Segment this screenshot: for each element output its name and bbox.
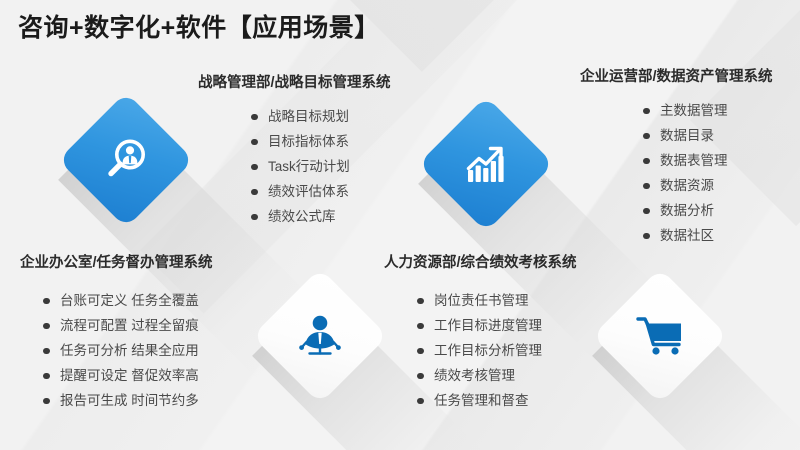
list-item: 提醒可设定 督促效率高 [40,363,213,388]
list-item: 绩效公式库 [248,204,391,229]
businessman-icon [272,288,368,384]
panel-dataasset: 企业运营部/数据资产管理系统 主数据管理 数据目录 数据表管理 数据资源 数据分… [578,66,773,248]
panel-office-heading-text: 企业办公室/任务督办管理系统 [20,255,213,271]
panel-strategy-list: 战略目标规划 目标指标体系 Task行动计划 绩效评估体系 绩效公式库 [248,104,391,229]
list-item: 数据资源 [640,173,773,198]
panel-dataasset-heading-text: 企业运营部/数据资产管理系统 [580,69,773,85]
list-item: 工作目标进度管理 [414,313,577,338]
panel-office-heading: 企业办公室/任务督办管理系统 [18,252,213,274]
panel-hr-list: 岗位责任书管理 工作目标进度管理 工作目标分析管理 绩效考核管理 任务管理和督查 [414,288,577,413]
list-item: 目标指标体系 [248,129,391,154]
list-item: 主数据管理 [640,98,773,123]
list-item: 数据目录 [640,123,773,148]
tile-office[interactable] [252,268,388,404]
shopping-cart-icon [612,288,708,384]
panel-hr-heading-text: 人力资源部/综合绩效考核系统 [384,255,577,271]
tile-hr[interactable] [592,268,728,404]
panel-hr: 人力资源部/综合绩效考核系统 岗位责任书管理 工作目标进度管理 工作目标分析管理… [382,252,577,413]
list-item: 数据分析 [640,198,773,223]
list-item: 任务管理和督查 [414,388,577,413]
panel-office-list: 台账可定义 任务全覆盖 流程可配置 过程全留痕 任务可分析 结果全应用 提醒可设… [40,288,213,413]
list-item: 数据社区 [640,223,773,248]
panel-strategy-heading-text: 战略管理部/战略目标管理系统 [198,75,391,91]
panel-dataasset-heading: 企业运营部/数据资产管理系统 [578,66,773,88]
panel-strategy-heading: 战略管理部/战略目标管理系统 [196,72,391,94]
page-title: 咨询+数字化+软件【应用场景】 [18,8,380,44]
panel-dataasset-list: 主数据管理 数据目录 数据表管理 数据资源 数据分析 数据社区 [640,98,773,248]
panel-office: 企业办公室/任务督办管理系统 台账可定义 任务全覆盖 流程可配置 过程全留痕 任… [18,252,213,413]
list-item: 数据表管理 [640,148,773,173]
magnifier-person-icon [78,112,174,208]
list-item: 任务可分析 结果全应用 [40,338,213,363]
panel-hr-heading: 人力资源部/综合绩效考核系统 [382,252,577,274]
list-item: 报告可生成 时间节约多 [40,388,213,413]
list-item: 工作目标分析管理 [414,338,577,363]
list-item: Task行动计划 [248,154,391,179]
background-band [330,0,800,72]
list-item: 战略目标规划 [248,104,391,129]
tile-strategy[interactable] [58,92,194,228]
list-item: 台账可定义 任务全覆盖 [40,288,213,313]
slide-canvas: 咨询+数字化+软件【应用场景】 [0,0,800,450]
panel-strategy: 战略管理部/战略目标管理系统 战略目标规划 目标指标体系 Task行动计划 绩效… [196,72,391,229]
list-item: 绩效考核管理 [414,363,577,388]
list-item: 岗位责任书管理 [414,288,577,313]
tile-dataasset[interactable] [418,96,554,232]
growth-chart-icon [438,116,534,212]
list-item: 绩效评估体系 [248,179,391,204]
list-item: 流程可配置 过程全留痕 [40,313,213,338]
